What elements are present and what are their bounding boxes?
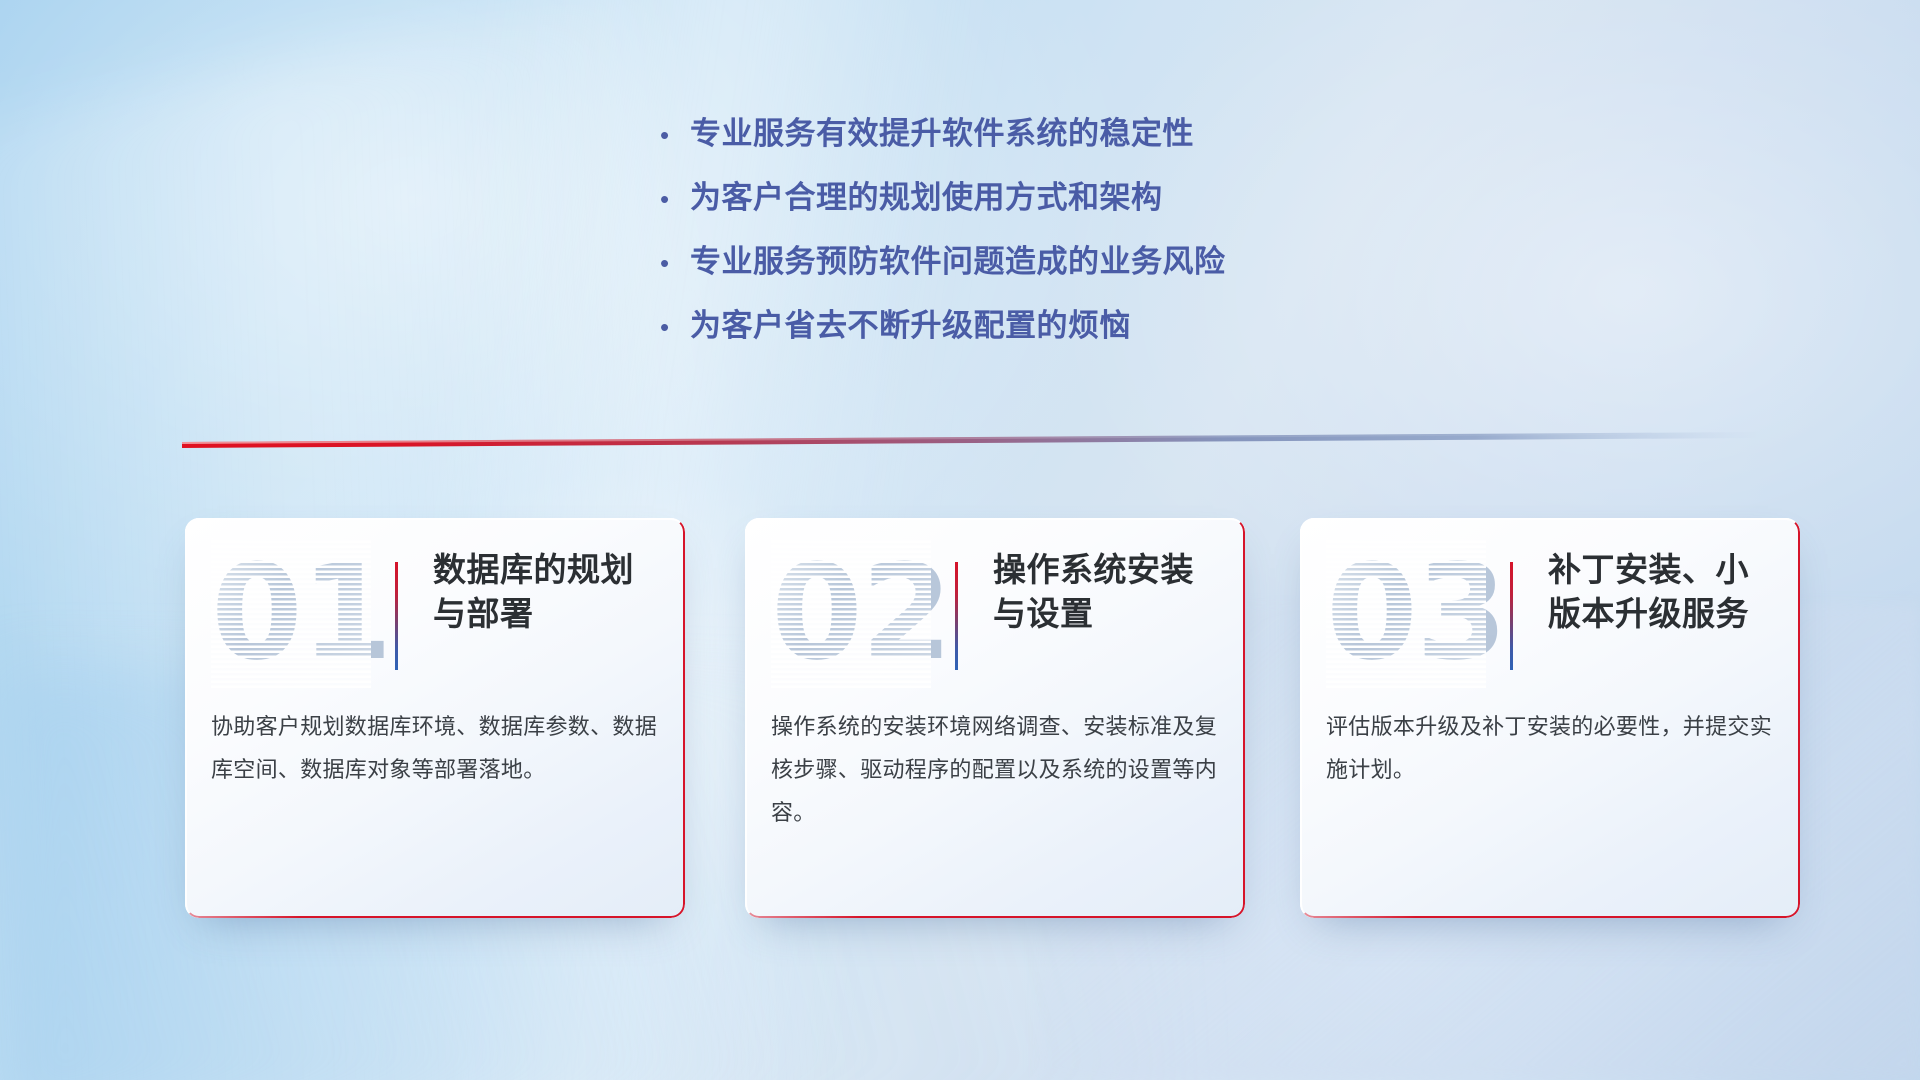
card-title: 补丁安装、小版本升级服务: [1548, 548, 1780, 636]
card-title-divider: [395, 562, 398, 670]
list-item: • 为客户合理的规划使用方式和架构: [660, 172, 1226, 236]
card-header: 01 数据库的规划与部署: [185, 540, 685, 690]
card-body-text: 评估版本升级及补丁安装的必要性，并提交实施计划。: [1326, 706, 1774, 792]
list-item: • 专业服务预防软件问题造成的业务风险: [660, 236, 1226, 300]
service-card-list: 01 数据库的规划与部署 协助客户规划数据库环境、数据库参数、数据库空间、数据库…: [0, 518, 1920, 938]
bullet-dot-icon: •: [660, 314, 690, 340]
service-card[interactable]: 02 操作系统安装与设置 操作系统的安装环境网络调查、安装标准及复核步骤、驱动程…: [745, 518, 1245, 918]
card-title: 数据库的规划与部署: [433, 548, 665, 636]
list-item: • 专业服务有效提升软件系统的稳定性: [660, 108, 1226, 172]
bullet-dot-icon: •: [660, 122, 690, 148]
benefit-bullet-list: • 专业服务有效提升软件系统的稳定性 • 为客户合理的规划使用方式和架构 • 专…: [660, 108, 1226, 364]
bullet-dot-icon: •: [660, 250, 690, 276]
card-number-badge: 02: [771, 538, 931, 688]
service-card[interactable]: 03 补丁安装、小版本升级服务 评估版本升级及补丁安装的必要性，并提交实施计划。: [1300, 518, 1800, 918]
bullet-dot-icon: •: [660, 186, 690, 212]
card-number-badge: 03: [1326, 538, 1486, 688]
service-card[interactable]: 01 数据库的规划与部署 协助客户规划数据库环境、数据库参数、数据库空间、数据库…: [185, 518, 685, 918]
section-divider: [0, 418, 1920, 454]
card-number-text: 03: [1326, 538, 1486, 688]
card-number-text: 01: [211, 538, 371, 688]
card-body-text: 操作系统的安装环境网络调查、安装标准及复核步骤、驱动程序的配置以及系统的设置等内…: [771, 706, 1219, 835]
bullet-text: 为客户省去不断升级配置的烦恼: [690, 300, 1131, 345]
card-body-text: 协助客户规划数据库环境、数据库参数、数据库空间、数据库对象等部署落地。: [211, 706, 659, 792]
card-number-badge: 01: [211, 538, 371, 688]
list-item: • 为客户省去不断升级配置的烦恼: [660, 300, 1226, 364]
card-title-divider: [955, 562, 958, 670]
card-title-divider: [1510, 562, 1513, 670]
card-header: 03 补丁安装、小版本升级服务: [1300, 540, 1800, 690]
bullet-text: 专业服务有效提升软件系统的稳定性: [690, 108, 1194, 153]
card-header: 02 操作系统安装与设置: [745, 540, 1245, 690]
bullet-text: 为客户合理的规划使用方式和架构: [690, 172, 1163, 217]
bullet-text: 专业服务预防软件问题造成的业务风险: [690, 236, 1226, 281]
card-title: 操作系统安装与设置: [993, 548, 1225, 636]
card-number-text: 02: [771, 538, 931, 688]
